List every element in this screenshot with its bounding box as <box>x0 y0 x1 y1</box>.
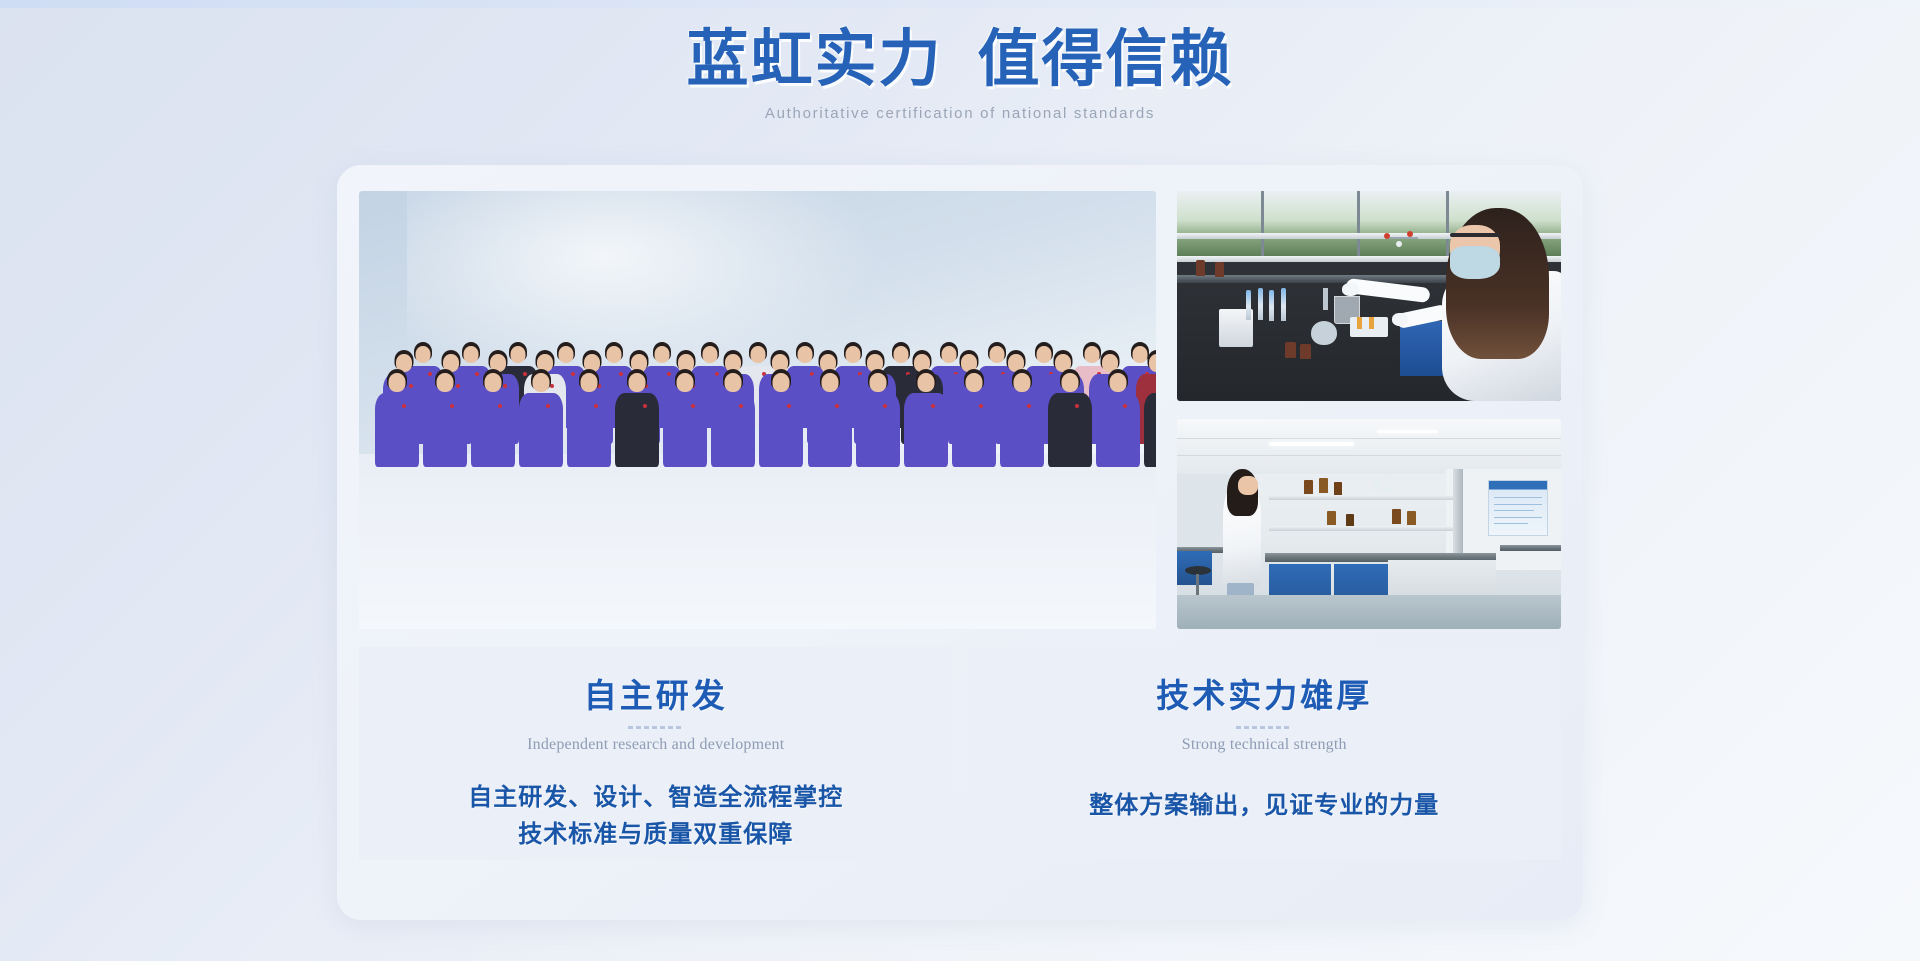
poster-text-line <box>1494 504 1542 505</box>
lab-floor <box>1177 595 1561 629</box>
group-photo-person <box>1000 369 1044 467</box>
safety-poster <box>1488 480 1548 537</box>
reagent-shelf <box>1269 526 1453 531</box>
card-divider <box>1236 726 1292 729</box>
person-head <box>533 373 550 392</box>
feature-card-independent-rd[interactable]: 自主研发 Independent research and developmen… <box>359 647 953 860</box>
group-photo-person <box>567 369 611 467</box>
group-photo-person <box>1144 369 1156 467</box>
person-uniform <box>759 393 803 467</box>
side-bench-top <box>1500 545 1561 551</box>
reagent-bottle <box>1346 514 1354 526</box>
volumetric-flask <box>1311 321 1337 345</box>
group-photo-person <box>471 369 515 467</box>
glass-cylinder <box>1384 474 1391 491</box>
uniform-logo <box>691 404 695 408</box>
card-body-line: 整体方案输出，见证专业的力量 <box>1089 788 1439 825</box>
reagent-shelf <box>1269 495 1453 500</box>
group-photo-person <box>423 369 467 467</box>
glass-cylinder <box>1373 476 1380 492</box>
person-head <box>437 373 454 392</box>
group-photo-person <box>519 369 563 467</box>
person-uniform <box>904 393 948 467</box>
reagent-bottle <box>1304 480 1313 494</box>
company-group-photo <box>359 191 1156 629</box>
person-uniform <box>1096 393 1140 467</box>
poster-text-line <box>1494 523 1529 524</box>
card-body: 整体方案输出，见证专业的力量 <box>1089 788 1439 825</box>
top-edge-sheen <box>0 0 1920 8</box>
group-photo-person <box>904 369 948 467</box>
person-uniform <box>423 393 467 467</box>
laboratory-room-photo <box>1177 419 1561 629</box>
person-uniform <box>567 393 611 467</box>
reagent-bottle <box>1285 342 1296 358</box>
person-uniform <box>711 393 755 467</box>
feature-cards: 自主研发 Independent research and developmen… <box>359 647 1561 860</box>
group-photo-people <box>359 213 1156 485</box>
group-photo-person <box>1096 369 1140 467</box>
reagent-bottle <box>1300 344 1311 359</box>
ceiling-light <box>1377 430 1438 433</box>
technician-face <box>1238 476 1257 495</box>
molecule-model-stick <box>1388 237 1418 239</box>
ceiling-light <box>1269 442 1353 446</box>
person-uniform <box>519 393 563 467</box>
uniform-logo <box>643 404 647 408</box>
pipette <box>1246 290 1251 320</box>
group-photo-person <box>856 369 900 467</box>
window-mullion <box>1357 191 1360 256</box>
reagent-bottle <box>1319 478 1328 493</box>
card-body-line: 技术标准与质量双重保障 <box>468 817 843 854</box>
reagent-bottle <box>1392 509 1401 524</box>
pipette <box>1269 290 1274 321</box>
card-title: 自主研发 <box>584 669 728 717</box>
reagent-bottle <box>1407 511 1416 525</box>
person-uniform <box>1144 393 1156 467</box>
card-divider <box>628 726 684 729</box>
poster-text-line <box>1494 497 1542 498</box>
person-head <box>1061 373 1078 392</box>
card-subtitle: Independent research and development <box>527 736 784 754</box>
feature-card-technical-strength[interactable]: 技术实力雄厚 Strong technical strength 整体方案输出，… <box>968 647 1562 860</box>
card-subtitle: Strong technical strength <box>1182 736 1347 754</box>
sample-tube <box>1357 317 1362 329</box>
page-header: 蓝虹实力 值得信赖 Authoritative certification of… <box>0 26 1920 122</box>
poster-text-line <box>1494 510 1534 511</box>
person-head <box>1013 373 1030 392</box>
page-title: 蓝虹实力 值得信赖 <box>0 26 1920 95</box>
card-body: 自主研发、设计、智造全流程掌控 技术标准与质量双重保障 <box>468 780 843 854</box>
person-uniform <box>808 393 852 467</box>
lab-ceiling <box>1177 419 1561 474</box>
technician-glove <box>1342 283 1359 296</box>
window-mullion <box>1261 191 1264 256</box>
reagent-bottle <box>1215 262 1224 277</box>
flask-neck <box>1323 288 1328 310</box>
group-photo-person <box>808 369 852 467</box>
person-head <box>965 373 982 392</box>
person-head <box>629 373 646 392</box>
person-head <box>677 373 694 392</box>
person-head <box>581 373 598 392</box>
group-photo-person <box>615 369 659 467</box>
person-head <box>388 373 405 392</box>
pipette <box>1281 288 1286 321</box>
card-body-line: 自主研发、设计、智造全流程掌控 <box>468 780 843 817</box>
sample-tube <box>1369 317 1374 329</box>
poster-text-line <box>1494 517 1542 518</box>
group-photo-person <box>1048 369 1092 467</box>
group-photo-person <box>759 369 803 467</box>
page-subtitle: Authoritative certification of national … <box>0 105 1920 122</box>
person-uniform <box>375 393 419 467</box>
person-head <box>821 373 838 392</box>
group-photo-person <box>711 369 755 467</box>
side-photo-column <box>1177 191 1561 629</box>
person-uniform <box>856 393 900 467</box>
pipette <box>1258 288 1263 320</box>
person-uniform <box>663 393 707 467</box>
person-uniform <box>1000 393 1044 467</box>
person-head <box>773 373 790 392</box>
technician-face-mask <box>1450 246 1500 280</box>
card-title: 技术实力雄厚 <box>1156 669 1372 717</box>
ceiling-grid-line <box>1177 455 1561 456</box>
group-photo-person <box>663 369 707 467</box>
technician-glasses <box>1450 233 1500 237</box>
ceiling-grid-line <box>1177 438 1561 439</box>
person-uniform <box>615 393 659 467</box>
reagent-bottle <box>1196 260 1205 276</box>
technician-glove <box>1392 313 1408 326</box>
person-uniform <box>952 393 996 467</box>
lab-technician-pipettes-photo <box>1177 191 1561 401</box>
person-uniform <box>1048 393 1092 467</box>
person-head <box>1109 373 1126 392</box>
person-head <box>869 373 886 392</box>
person-head <box>485 373 502 392</box>
reagent-bottle <box>1334 482 1342 495</box>
person-uniform <box>471 393 515 467</box>
window-mullion <box>1446 191 1449 256</box>
photo-gallery <box>359 191 1561 629</box>
reagent-bottle <box>1327 511 1336 525</box>
group-photo-person <box>952 369 996 467</box>
group-photo-person <box>375 369 419 467</box>
person-head <box>917 373 934 392</box>
person-head <box>725 373 742 392</box>
content-panel: 自主研发 Independent research and developmen… <box>337 165 1583 920</box>
